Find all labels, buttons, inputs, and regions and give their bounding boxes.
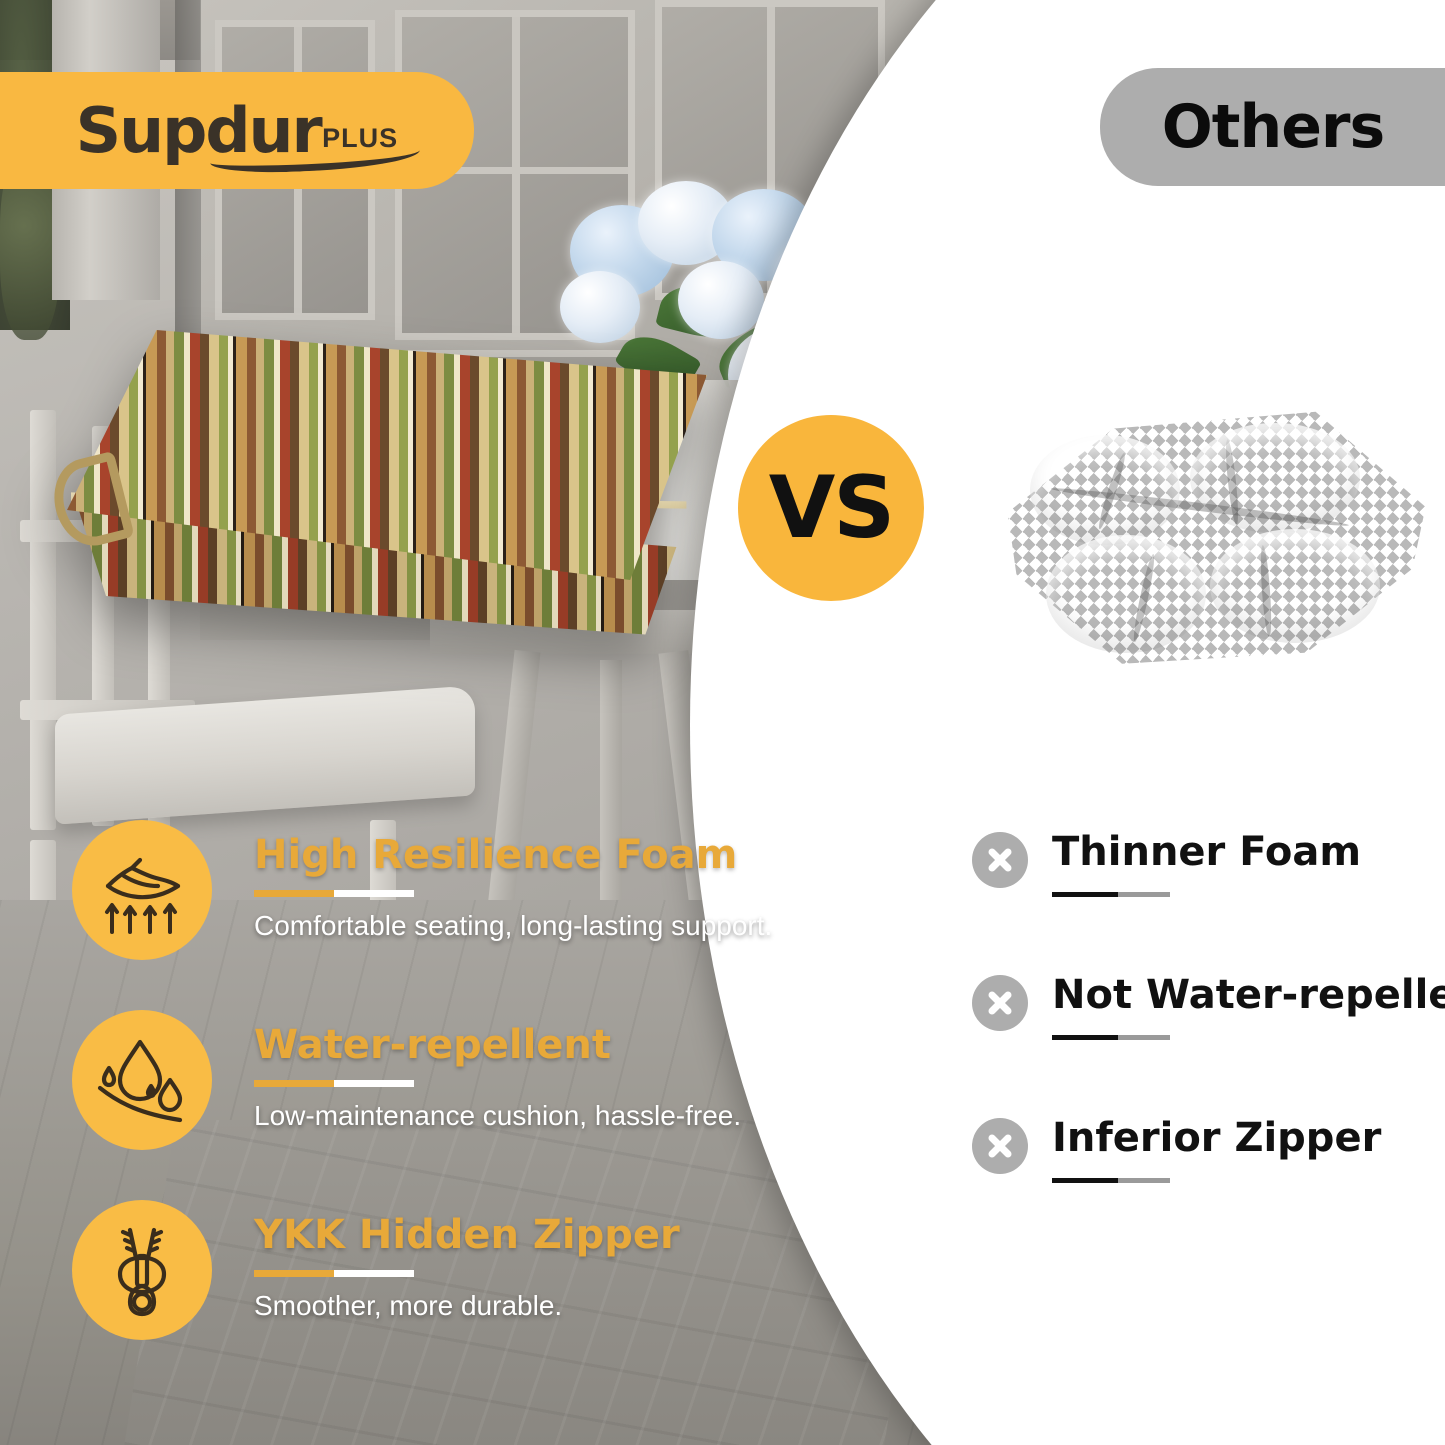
con-text-block: Inferior Zipper xyxy=(1052,1108,1381,1183)
product-comparison-poster: Supdur PLUS Others VS xyxy=(0,0,1445,1445)
feature-underline xyxy=(254,890,414,897)
feature-text-block: YKK Hidden Zipper Smoother, more durable… xyxy=(254,1214,774,1323)
feature-list: High Resilience Foam Comfortable seating… xyxy=(72,820,752,1390)
con-item: Not Water-repellent xyxy=(972,971,1442,1114)
tuft-puff xyxy=(1030,435,1180,545)
feature-title: High Resilience Foam xyxy=(254,834,774,876)
feature-item: Water-repellent Low-maintenance cushion,… xyxy=(72,1010,752,1200)
featured-striped-cushion xyxy=(55,330,725,680)
others-heading: Others xyxy=(1162,92,1384,162)
x-circle-icon xyxy=(972,832,1028,888)
con-item: Thinner Foam xyxy=(972,828,1442,971)
con-underline xyxy=(1052,1178,1170,1183)
others-heading-pill: Others xyxy=(1100,68,1445,186)
con-title: Inferior Zipper xyxy=(1052,1108,1381,1168)
hand-support-arrows-icon xyxy=(72,820,212,960)
brand-wordmark-icon: Supdur PLUS xyxy=(78,100,398,162)
feature-underline xyxy=(254,1270,414,1277)
feature-underline xyxy=(254,1080,414,1087)
x-circle-icon xyxy=(972,975,1028,1031)
feature-item: YKK Hidden Zipper Smoother, more durable… xyxy=(72,1200,752,1390)
versus-label: VS xyxy=(769,458,894,558)
con-title: Not Water-repellent xyxy=(1052,965,1445,1025)
x-circle-icon xyxy=(972,1118,1028,1174)
feature-text-block: Water-repellent Low-maintenance cushion,… xyxy=(254,1024,774,1133)
zipper-pull-icon xyxy=(72,1200,212,1340)
tuft-puff xyxy=(1046,535,1206,653)
feature-subtitle: Low-maintenance cushion, hassle-free. xyxy=(254,1099,774,1133)
feature-text-block: High Resilience Foam Comfortable seating… xyxy=(254,834,774,943)
others-product-image xyxy=(990,395,1430,675)
feature-title: YKK Hidden Zipper xyxy=(254,1214,774,1256)
others-cushion-body xyxy=(990,395,1430,675)
con-underline xyxy=(1052,1035,1170,1040)
brand-logo-pill: Supdur PLUS xyxy=(0,72,474,189)
feature-item: High Resilience Foam Comfortable seating… xyxy=(72,820,752,1010)
con-underline xyxy=(1052,892,1170,897)
con-text-block: Not Water-repellent xyxy=(1052,965,1445,1040)
versus-badge: VS xyxy=(738,415,924,601)
feature-subtitle: Smoother, more durable. xyxy=(254,1289,774,1323)
con-title: Thinner Foam xyxy=(1052,822,1361,882)
feature-title: Water-repellent xyxy=(254,1024,774,1066)
tuft-puff xyxy=(1190,423,1360,533)
con-item: Inferior Zipper xyxy=(972,1114,1442,1257)
feature-subtitle: Comfortable seating, long-lasting suppor… xyxy=(254,909,774,943)
con-text-block: Thinner Foam xyxy=(1052,822,1361,897)
water-droplet-repel-icon xyxy=(72,1010,212,1150)
tuft-puff xyxy=(1210,529,1380,643)
cons-list: Thinner Foam Not Water-repellent xyxy=(972,828,1442,1257)
